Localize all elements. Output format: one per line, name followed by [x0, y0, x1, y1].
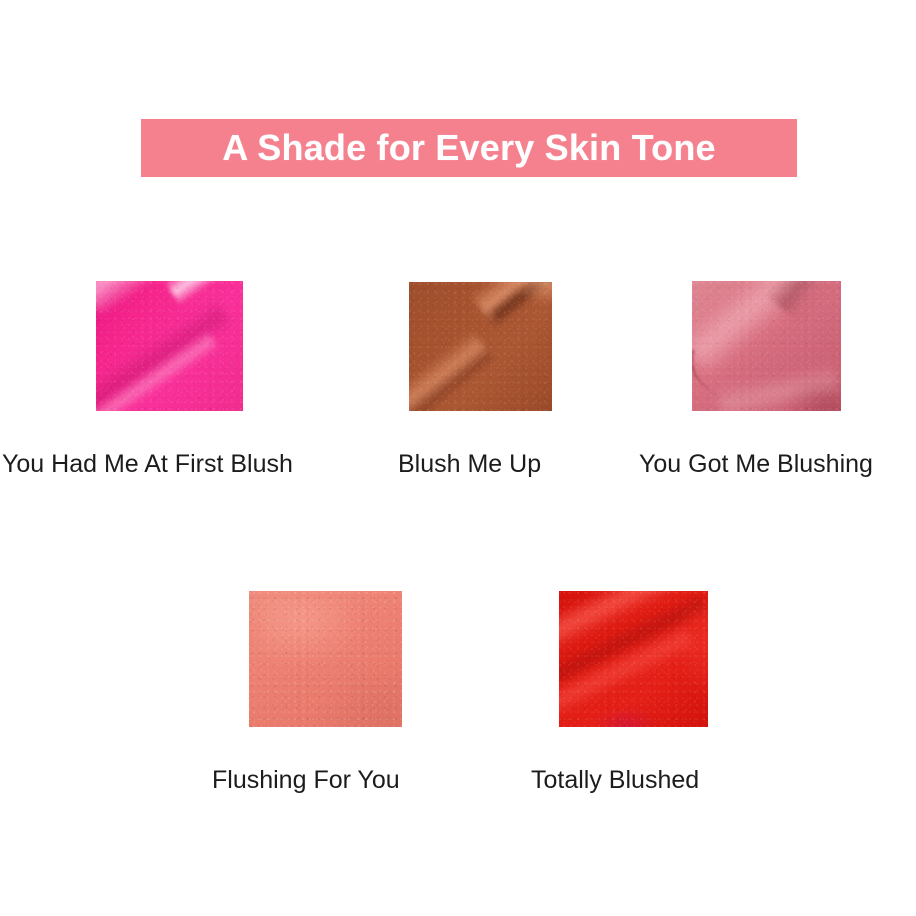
swatch-card-totally-blushed: Totally Blushed [0, 0, 149, 136]
swatch-label-blush-me-up: Blush Me Up [398, 452, 541, 477]
swatch-texture-grain [409, 282, 552, 411]
page-title: A Shade for Every Skin Tone [222, 130, 716, 166]
swatch-texture-grain [96, 281, 243, 411]
title-banner: A Shade for Every Skin Tone [141, 119, 797, 177]
swatch-texture-grain [692, 281, 841, 411]
swatch-texture-grain [559, 591, 708, 727]
color-swatch-got-me-blushing[interactable] [692, 281, 841, 411]
color-swatch-flushing-for-you[interactable] [249, 591, 402, 727]
swatch-label-totally-blushed: Totally Blushed [531, 768, 699, 793]
color-swatch-blush-me-up[interactable] [409, 282, 552, 411]
color-swatch-first-blush[interactable] [96, 281, 243, 411]
swatch-label-first-blush: You Had Me At First Blush [2, 452, 293, 477]
swatch-label-flushing-for-you: Flushing For You [212, 768, 400, 793]
swatch-powder-grain [249, 591, 402, 727]
swatch-label-got-me-blushing: You Got Me Blushing [639, 452, 873, 477]
color-swatch-totally-blushed[interactable] [559, 591, 708, 727]
